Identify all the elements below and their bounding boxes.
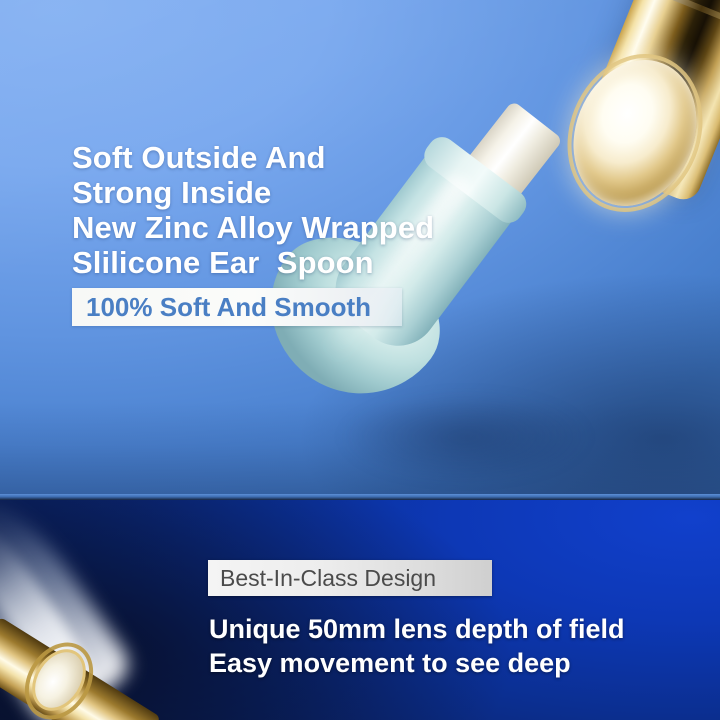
badge-soft-and-smooth: 100% Soft And Smooth: [72, 288, 402, 326]
bottom-panel: [0, 500, 720, 720]
badge-soft-label: 100% Soft And Smooth: [86, 292, 371, 323]
top-panel: Soft Outside And Strong Inside New Zinc …: [0, 0, 720, 498]
badge-design-label: Best-In-Class Design: [220, 565, 436, 592]
badge-best-in-class-design: Best-In-Class Design: [208, 560, 492, 596]
barrel-ring: [641, 0, 720, 30]
top-headline: Soft Outside And Strong Inside New Zinc …: [72, 140, 434, 280]
bottom-copy: Unique 50mm lens depth of field Easy mov…: [209, 612, 625, 680]
product-banner: Soft Outside And Strong Inside New Zinc …: [0, 0, 720, 720]
